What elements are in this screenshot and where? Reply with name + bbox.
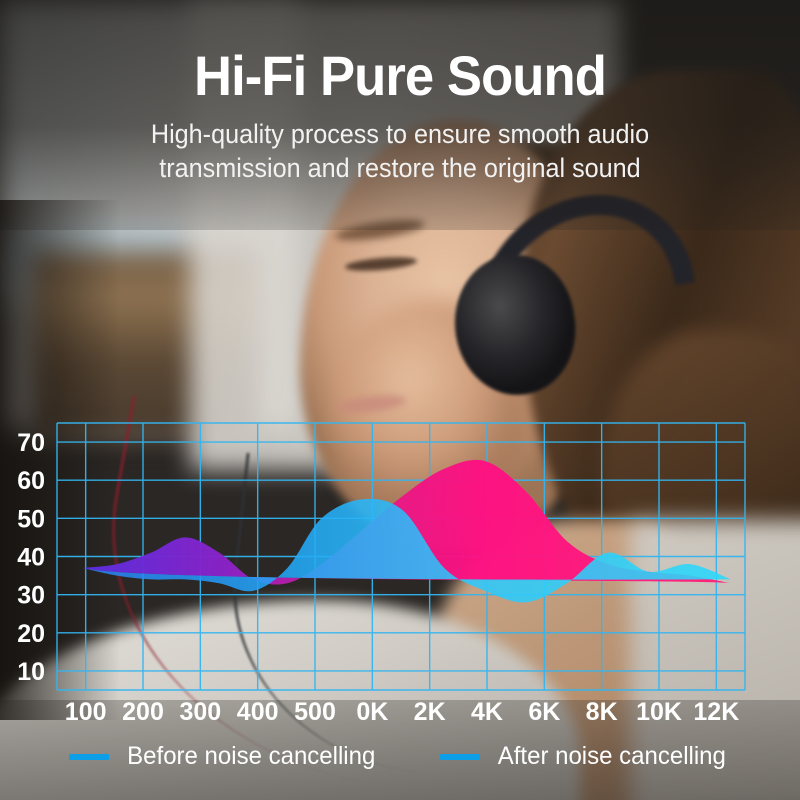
x-tick-label: 4K [471, 698, 503, 726]
frequency-response-chart: 70605040302010 1002003004005000K2K4K6K8K… [0, 0, 800, 800]
x-tick-label: 100 [65, 698, 107, 726]
y-tick-label: 60 [17, 467, 45, 495]
y-tick-label: 10 [17, 658, 45, 686]
x-axis-tick-labels: 1002003004005000K2K4K6K8K10K12K [65, 698, 739, 726]
legend-label-before: Before noise cancelling [127, 742, 375, 771]
y-tick-label: 30 [17, 582, 45, 610]
x-tick-label: 0K [356, 698, 388, 726]
chart-svg: 70605040302010 1002003004005000K2K4K6K8K… [0, 0, 800, 800]
legend-label-after: After noise cancelling [498, 742, 726, 771]
y-axis-tick-labels: 70605040302010 [17, 429, 45, 686]
x-tick-label: 300 [179, 698, 221, 726]
chart-legend: Before noise cancelling After noise canc… [0, 742, 800, 771]
y-tick-label: 40 [17, 544, 45, 572]
x-tick-label: 400 [237, 698, 279, 726]
x-tick-label: 12K [693, 698, 739, 726]
legend-swatch-icon [69, 754, 109, 760]
x-tick-label: 10K [636, 698, 682, 726]
y-tick-label: 70 [17, 429, 45, 457]
y-tick-label: 50 [17, 505, 45, 533]
x-tick-label: 200 [122, 698, 164, 726]
x-tick-label: 2K [414, 698, 446, 726]
legend-item-after[interactable]: After noise cancelling [440, 742, 731, 771]
promo-banner: Hi-Fi Pure Sound High-quality process to… [0, 0, 800, 800]
x-tick-label: 500 [294, 698, 336, 726]
x-tick-label: 6K [528, 698, 560, 726]
legend-item-before[interactable]: Before noise cancelling [69, 742, 381, 771]
y-tick-label: 20 [17, 620, 45, 648]
legend-swatch-icon [440, 754, 480, 760]
x-tick-label: 8K [586, 698, 618, 726]
